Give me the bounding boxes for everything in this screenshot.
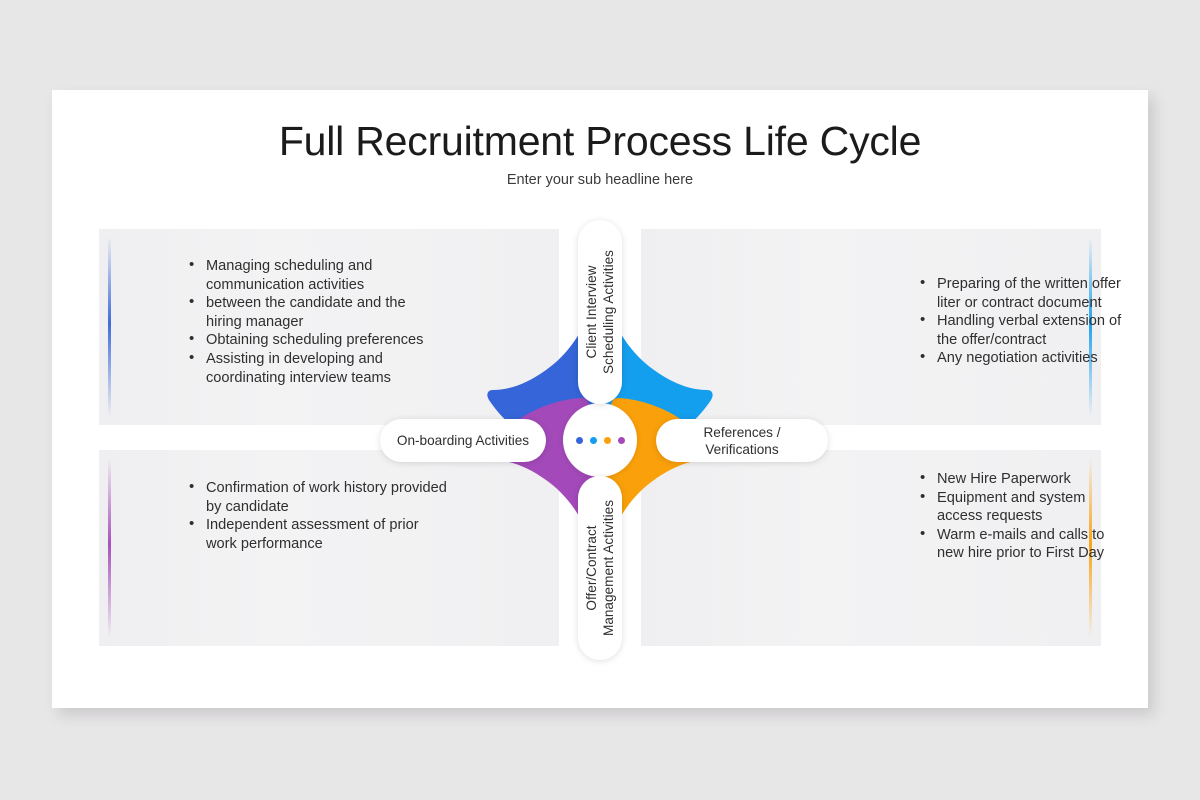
list-item: New Hire Paperwork xyxy=(916,470,1131,489)
screenshot-canvas: Full Recruitment Process Life Cycle Ente… xyxy=(0,0,1200,800)
bullet-list-bottom-right: New Hire Paperwork Equipment and system … xyxy=(916,470,1131,563)
label-pill-references[interactable]: References / Verifications xyxy=(656,419,828,462)
label-pill-on-boarding-text: On-boarding Activities xyxy=(397,432,529,449)
list-item: between the candidate and the hiring man… xyxy=(185,294,435,331)
bullet-list-top-left: Managing scheduling and communication ac… xyxy=(185,257,435,387)
label-pill-client-interview[interactable]: Client Interview Scheduling Activities xyxy=(578,220,622,404)
list-item: Warm e-mails and calls to new hire prior… xyxy=(916,526,1131,563)
list-item: Any negotiation activities xyxy=(916,349,1131,368)
list-item: Handling verbal extension of the offer/c… xyxy=(916,312,1131,349)
pill-line-2: Verifications xyxy=(703,441,780,458)
hub-dot-orange xyxy=(604,437,611,444)
accent-bar-blue xyxy=(108,237,111,417)
hub-dot-purple xyxy=(618,437,625,444)
pill-line-1: Client Interview xyxy=(583,250,600,374)
pill-line-1: References / xyxy=(703,424,780,441)
pill-line-2: Management Activities xyxy=(600,500,617,636)
pill-line-1: Offer/Contract xyxy=(583,500,600,636)
list-item: Managing scheduling and communication ac… xyxy=(185,257,435,294)
list-item: Obtaining scheduling preferences xyxy=(185,331,435,350)
label-pill-client-interview-text: Client Interview Scheduling Activities xyxy=(583,250,617,374)
label-pill-offer-contract-text: Offer/Contract Management Activities xyxy=(583,500,617,636)
bullet-list-top-right: Preparing of the written offer liter or … xyxy=(916,275,1131,368)
label-pill-on-boarding[interactable]: On-boarding Activities xyxy=(380,419,546,462)
label-pill-offer-contract[interactable]: Offer/Contract Management Activities xyxy=(578,476,622,660)
list-item: Assisting in developing and coordinating… xyxy=(185,350,435,387)
list-item: Preparing of the written offer liter or … xyxy=(916,275,1131,312)
accent-bar-purple xyxy=(108,458,111,638)
page-title: Full Recruitment Process Life Cycle xyxy=(52,118,1148,165)
hub-dot-blue xyxy=(576,437,583,444)
page-subtitle: Enter your sub headline here xyxy=(52,172,1148,188)
list-item: Equipment and system access requests xyxy=(916,489,1131,526)
center-hub xyxy=(563,403,637,477)
label-pill-references-text: References / Verifications xyxy=(703,424,780,458)
slide: Full Recruitment Process Life Cycle Ente… xyxy=(52,90,1148,708)
pill-line-2: Scheduling Activities xyxy=(600,250,617,374)
hub-dot-cyan xyxy=(590,437,597,444)
